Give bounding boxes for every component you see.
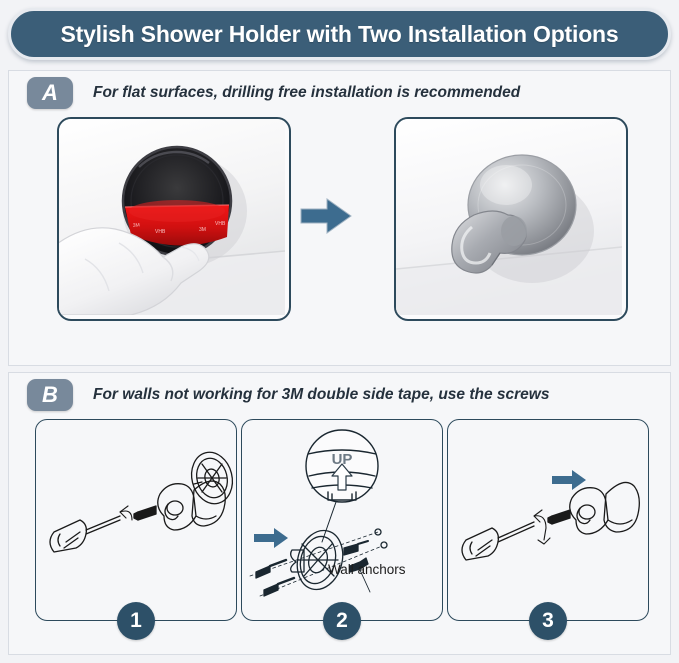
section-a-header: A For flat surfaces, drilling free insta…: [9, 71, 670, 115]
step-3-direction-arrow-icon: [552, 470, 586, 490]
step-disassemble-holder: 1: [35, 419, 237, 621]
peel-adhesive-illustration: 3M VHB 3M VHB: [59, 119, 285, 315]
section-a-photo-row: 3M VHB 3M VHB: [9, 117, 670, 342]
wall-anchors-label: Wall anchors: [328, 562, 406, 577]
section-a-badge: A: [27, 77, 73, 109]
installed-holder-illustration: [396, 119, 622, 315]
header-banner: Stylish Shower Holder with Two Installat…: [8, 8, 671, 60]
up-orientation-label: UP: [332, 451, 353, 468]
section-b: B For walls not working for 3M double si…: [8, 372, 671, 655]
section-b-step-row: 1 UP: [9, 419, 670, 647]
peel-adhesive-liner-photo: 3M VHB 3M VHB: [57, 117, 291, 321]
step-number-2: 2: [323, 602, 361, 640]
installed-holder-photo: [394, 117, 628, 321]
step-mount-plate-with-screws: UP: [241, 419, 443, 621]
section-a: A For flat surfaces, drilling free insta…: [8, 70, 671, 366]
banner-pill: Stylish Shower Holder with Two Installat…: [8, 8, 671, 60]
process-arrow-icon: [297, 195, 357, 237]
svg-text:VHB: VHB: [155, 229, 166, 235]
svg-text:VHB: VHB: [215, 221, 226, 227]
step-number-1: 1: [117, 602, 155, 640]
step-1-illustration: [36, 420, 236, 620]
step-2-direction-arrow-icon: [254, 528, 288, 548]
svg-text:3M: 3M: [133, 222, 141, 229]
section-b-header: B For walls not working for 3M double si…: [9, 373, 670, 417]
svg-text:3M: 3M: [199, 227, 206, 233]
section-b-badge: B: [27, 379, 73, 411]
step-2-illustration: UP: [242, 420, 442, 620]
step-reattach-cradle: 3: [447, 419, 649, 621]
step-3-illustration: [448, 420, 648, 620]
step-number-3: 3: [529, 602, 567, 640]
page-title: Stylish Shower Holder with Two Installat…: [60, 21, 618, 48]
section-a-instruction: For flat surfaces, drilling free install…: [93, 84, 520, 102]
section-b-instruction: For walls not working for 3M double side…: [93, 386, 549, 404]
